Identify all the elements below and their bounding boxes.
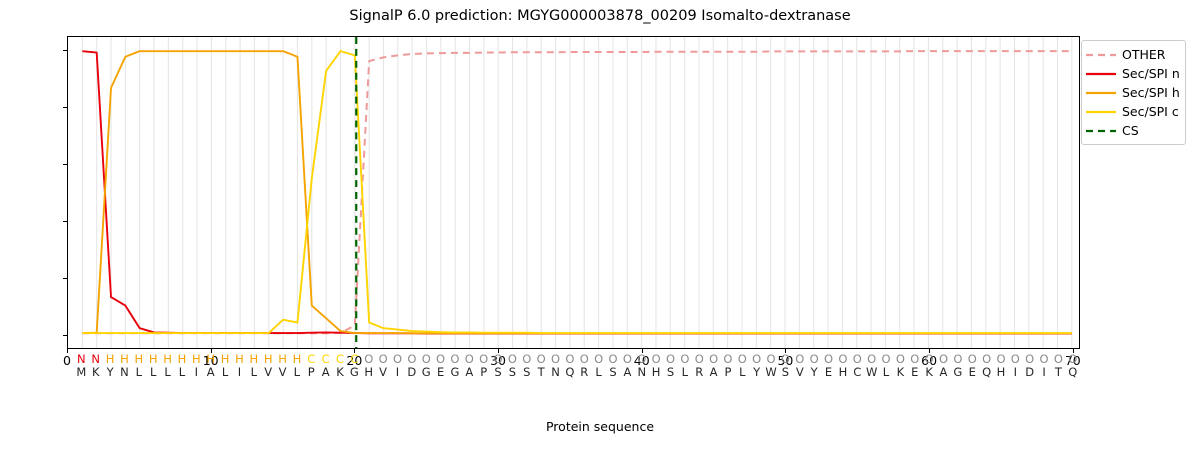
legend-item-cs[interactable]: CS: [1086, 121, 1180, 140]
legend-swatch-icon: [1086, 106, 1116, 118]
legend-item-other[interactable]: OTHER: [1086, 45, 1180, 64]
chart-legend: OTHERSec/SPI nSec/SPI hSec/SPI cCS: [1081, 40, 1186, 145]
x-axis-label: Protein sequence: [0, 419, 1200, 434]
legend-label: Sec/SPI h: [1122, 85, 1180, 100]
plot-area: [67, 36, 1080, 349]
signalp-prediction-figure: SignalP 6.0 prediction: MGYG000003878_00…: [0, 0, 1200, 450]
chart-title: SignalP 6.0 prediction: MGYG000003878_00…: [0, 8, 1200, 24]
legend-swatch-icon: [1086, 87, 1116, 99]
legend-item-sec-spi-h[interactable]: Sec/SPI h: [1086, 83, 1180, 102]
legend-label: Sec/SPI n: [1122, 66, 1180, 81]
series-sec-spi-c: [82, 51, 1071, 333]
series-other: [82, 51, 1071, 333]
legend-label: CS: [1122, 123, 1139, 138]
series-sec-spi-n: [82, 51, 1071, 333]
legend-swatch-icon: [1086, 49, 1116, 61]
legend-item-sec-spi-c[interactable]: Sec/SPI c: [1086, 102, 1180, 121]
data-layer: [68, 37, 1079, 348]
legend-swatch-icon: [1086, 125, 1116, 137]
residue-cell: Q: [1060, 366, 1086, 379]
series-sec-spi-h: [82, 51, 1071, 333]
legend-item-sec-spi-n[interactable]: Sec/SPI n: [1086, 64, 1180, 83]
legend-swatch-icon: [1086, 68, 1116, 80]
legend-label: Sec/SPI c: [1122, 104, 1179, 119]
legend-label: OTHER: [1122, 47, 1165, 62]
